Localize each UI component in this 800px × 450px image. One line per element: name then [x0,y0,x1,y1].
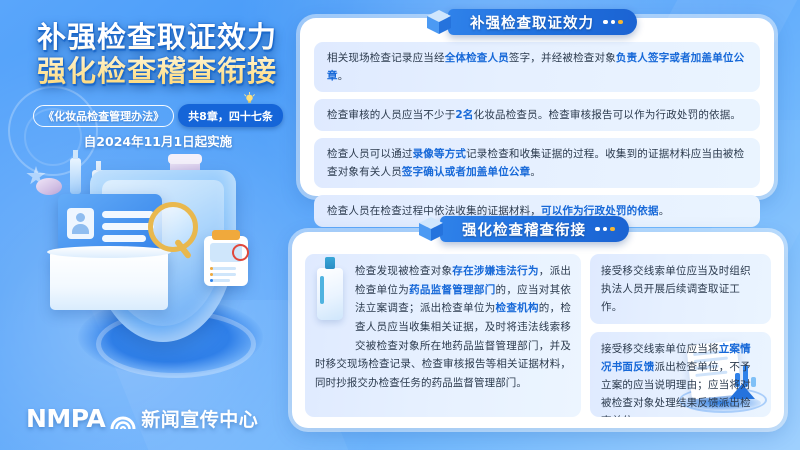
list-item: 检查人员可以通过录像等方式记录检查和收集证据的过程。收集到的证据材料应当由被检查… [314,138,760,188]
section-2-right-column: 接受移交线索单位应当及时组织执法人员开展后续调查取证工作。 接受移交线索单位应当… [590,254,771,417]
card-line [102,211,154,218]
lightbulb-icon [243,92,256,105]
bottle-stripe [320,276,324,304]
document-scope-badge: 共8章，四十七条 [178,104,283,127]
list-item: 接受移交线索单位应当及时组织执法人员开展后续调查取证工作。 [590,254,771,324]
section-panel-2: 检查发现被检查对象存在涉嫌违法行为，派出检查单位为药品监督管理部门的，应当对其依… [292,232,784,428]
inspection-magnifier-icon [232,244,249,261]
title-line-2: 强化检查稽查衔接 [28,56,286,87]
section-2-header: 强化检查稽查衔接 [416,214,629,244]
section-2-left-paragraph: 检查发现被检查对象存在涉嫌违法行为，派出检查单位为药品监督管理部门的，应当对其依… [305,254,581,417]
decor-dots [595,227,615,232]
clipboard-line [210,279,230,282]
card-line [102,223,154,230]
clipboard-line [210,273,236,276]
list-item: 检查审核的人员应当不少于2名化妆品检查员。检查审核报告可以作为行政处罚的依据。 [314,99,760,131]
section-1-header-pill: 补强检查取证效力 [448,9,637,35]
hero-illustration [18,158,308,403]
card-line [102,235,146,242]
section-panel-1: 相关现场检查记录应当经全体检查人员签字，并经被检查对象负责人签字或者加盖单位公章… [300,18,774,196]
clipboard-dot [210,267,213,270]
section-1-bullet-list: 相关现场检查记录应当经全体检查人员签字，并经被检查对象负责人签字或者加盖单位公章… [314,42,760,227]
section-2-title: 强化检查稽查衔接 [462,219,586,240]
cosmetic-bottle-icon [70,158,81,194]
clipboard-line [210,267,236,270]
arc-wave-logo-icon [110,407,136,431]
hero-section: 补强检查取证效力 强化检查稽查衔接 《化妆品检查管理办法》 共8章，四十七条 自… [0,0,300,450]
cube-icon [416,214,446,244]
compact-powder-icon [36,178,62,195]
decor-dots [603,20,623,25]
infographic-poster: 补强检查取证效力 强化检查稽查衔接 《化妆品检查管理办法》 共8章，四十七条 自… [0,0,800,450]
section-1-title: 补强检查取证效力 [470,12,594,33]
nmpa-wordmark: NMPA [26,404,105,433]
magnifier-icon [148,202,198,252]
avatar [67,208,94,239]
section-2-content: 检查发现被检查对象存在涉嫌违法行为，派出检查单位为药品监督管理部门的，应当对其依… [305,254,771,417]
document-scroll-icon [50,252,168,310]
effective-date: 自2024年11月1日起实施 [30,131,286,150]
section-2-header-pill: 强化检查稽查衔接 [440,216,629,242]
list-item: 相关现场检查记录应当经全体检查人员签字，并经被检查对象负责人签字或者加盖单位公章… [314,42,760,92]
clipboard-dot [210,273,213,276]
bottle-illustration [315,262,349,342]
title-line-1: 补强检查取证效力 [37,20,277,54]
document-badge-row: 《化妆品检查管理办法》 共8章，四十七条 [30,104,286,127]
cube-icon [424,7,454,37]
section-1-header: 补强检查取证效力 [424,7,637,37]
spray-bottle-icon [317,268,343,320]
section-2-left-text: 检查发现被检查对象存在涉嫌违法行为，派出检查单位为药品监督管理部门的，应当对其依… [315,265,571,389]
page-title: 补强检查取证效力 强化检查稽查衔接 [28,22,286,86]
clipboard-dot [210,279,213,282]
footer-logo: NMPA 新闻宣传中心 [26,404,258,433]
list-item-text: 接受移交线索单位应当将立案情况书面反馈派出检查单位，不予立案的应当说明理由；应当… [601,343,751,417]
list-item: 接受移交线索单位应当将立案情况书面反馈派出检查单位，不予立案的应当说明理由；应当… [590,332,771,417]
document-name-badge: 《化妆品检查管理办法》 [33,105,174,127]
org-name: 新闻宣传中心 [141,405,258,432]
